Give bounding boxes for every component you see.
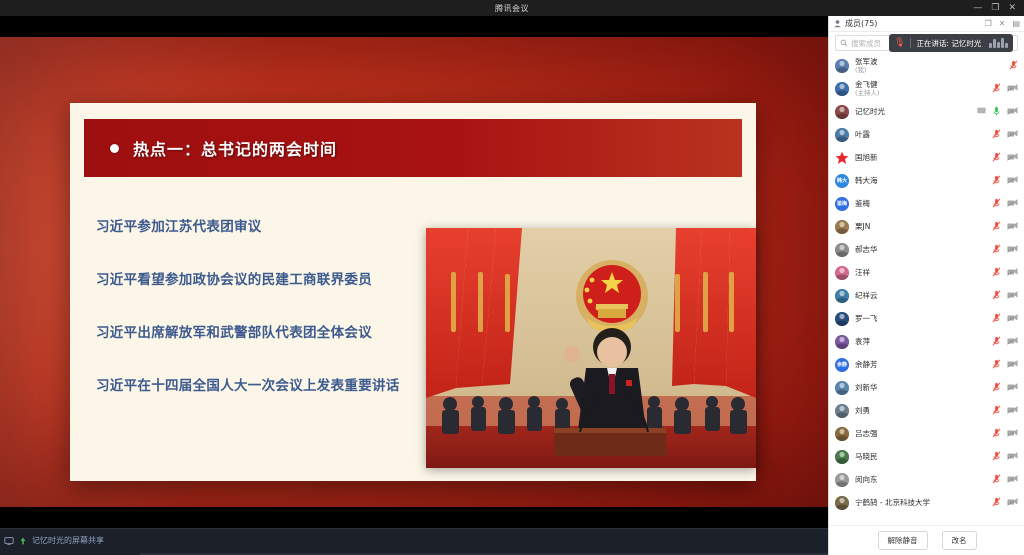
participant-name: 叶露	[855, 130, 870, 139]
participant-row[interactable]: 韩大韩大海	[829, 169, 1024, 192]
avatar	[835, 289, 849, 303]
participant-name: 记忆时光	[855, 107, 885, 116]
slide-bullet-2: 习近平出席解放军和武警部队代表团全体会议	[96, 321, 436, 341]
participant-name-wrap: 宁鹤鸫 - 北京科技大学	[855, 498, 930, 507]
speaking-label: 正在讲话: 记忆时光	[916, 38, 981, 49]
avatar	[835, 128, 849, 142]
rename-button[interactable]: 改名	[942, 531, 977, 550]
panel-menu-icon[interactable]: ▤	[1012, 19, 1020, 28]
avatar	[835, 427, 849, 441]
participant-name-wrap: 栗JN	[855, 222, 870, 231]
participant-name-wrap: 刘新华	[855, 383, 878, 392]
slide-bullet-list: 习近平参加江苏代表团审议 习近平看望参加政协会议的民建工商联界委员 习近平出席解…	[96, 215, 436, 427]
participant-name-wrap: 鉴梅	[855, 199, 870, 208]
participant-row[interactable]: 袁萍	[829, 330, 1024, 353]
participant-name: 金飞健	[855, 80, 880, 89]
mic-off-icon[interactable]	[992, 175, 1001, 187]
maximize-icon[interactable]: ❐	[991, 4, 999, 13]
mic-muted-icon: 🎙	[894, 38, 905, 48]
slide-bullet-1: 习近平看望参加政协会议的民建工商联界委员	[96, 268, 436, 288]
slide-card: 热点一：总书记的两会时间 习近平参加江苏代表团审议 习近平看望参加政协会议的民建…	[70, 103, 756, 481]
participant-row[interactable]: 张军波(我)	[829, 54, 1024, 77]
avatar	[835, 335, 849, 349]
participants-footer: 解除静音 改名	[829, 525, 1024, 555]
mic-off-icon[interactable]	[992, 497, 1001, 509]
mic-off-icon[interactable]	[992, 129, 1001, 141]
window-titlebar: 腾讯会议 — ❐ ✕	[0, 0, 1024, 16]
participant-name: 张军波	[855, 57, 878, 66]
taskbar-share-item[interactable]: 记忆时光的屏幕共享	[4, 535, 104, 546]
participant-name: 马晓民	[855, 452, 878, 461]
slide-bullet-3: 习近平在十四届全国人大一次会议上发表重要讲话	[96, 374, 436, 394]
avatar	[835, 450, 849, 464]
participant-row[interactable]: 记忆时光	[829, 100, 1024, 123]
participant-name-wrap: 金飞健(主持人)	[855, 80, 880, 97]
participant-name: 鉴梅	[855, 199, 870, 208]
window-title: 腾讯会议	[495, 3, 529, 14]
participant-name-wrap: 纪祥云	[855, 291, 878, 300]
camera-off-icon[interactable]	[1007, 222, 1018, 232]
camera-off-icon[interactable]	[1007, 268, 1018, 278]
participant-status-icons	[992, 267, 1018, 279]
avatar	[835, 243, 849, 257]
participant-row[interactable]: 郝志华	[829, 238, 1024, 261]
participant-status-icons	[977, 106, 1018, 118]
avatar	[835, 404, 849, 418]
unmute-all-button[interactable]: 解除静音	[878, 531, 928, 550]
mic-off-icon[interactable]	[992, 83, 1001, 95]
camera-off-icon[interactable]	[1007, 199, 1018, 209]
avatar: 鉴梅	[835, 197, 849, 211]
mic-off-icon[interactable]	[992, 428, 1001, 440]
screen-icon	[4, 536, 14, 546]
slide-header-bullet-icon	[110, 144, 119, 153]
mic-off-icon[interactable]	[992, 313, 1001, 325]
mic-off-icon[interactable]	[992, 290, 1001, 302]
avatar	[835, 266, 849, 280]
participant-status-icons	[992, 175, 1018, 187]
participants-list[interactable]: 张军波(我)金飞健(主持人)记忆时光叶露国旭新韩大韩大海鉴梅鉴梅栗JN郝志华汪祥…	[829, 54, 1024, 526]
slide-header-bar: 热点一：总书记的两会时间	[84, 119, 742, 177]
camera-off-icon[interactable]	[1007, 107, 1018, 117]
participant-name-wrap: 郝志华	[855, 245, 878, 254]
participant-name: 郝志华	[855, 245, 878, 254]
avatar: 韩大	[835, 174, 849, 188]
participant-name: 宁鹤鸫 - 北京科技大学	[855, 498, 930, 507]
participant-name: 余静芳	[855, 360, 878, 369]
meeting-window: 腾讯会议 — ❐ ✕ 热点一：总书记的两会时间 习近平参加江苏代表团审议 习近平…	[0, 0, 1024, 555]
participant-row[interactable]: 刘新华	[829, 376, 1024, 399]
participant-row[interactable]: 纪祥云	[829, 284, 1024, 307]
participants-panel: 成员(75) ❐ ✕ ▤ 搜索成员 🎙 正在讲话: 记忆时光	[828, 16, 1024, 555]
participant-name-wrap: 马晓民	[855, 452, 878, 461]
participant-status-icons	[992, 428, 1018, 440]
participant-name-wrap: 汪祥	[855, 268, 870, 277]
slide-photo	[426, 228, 756, 468]
mic-off-icon[interactable]	[992, 221, 1001, 233]
close-icon[interactable]: ✕	[1008, 4, 1016, 13]
participant-row[interactable]: 栗JN	[829, 215, 1024, 238]
participant-name: 吕志强	[855, 429, 878, 438]
avatar	[835, 381, 849, 395]
waveform-icon	[989, 38, 1008, 48]
participant-name-wrap: 记忆时光	[855, 107, 885, 116]
participant-status-icons	[992, 451, 1018, 463]
camera-off-icon[interactable]	[1007, 153, 1018, 163]
taskbar-share-label: 记忆时光的屏幕共享	[32, 535, 104, 546]
participant-status-icons	[992, 497, 1018, 509]
presentation-slide: 热点一：总书记的两会时间 习近平参加江苏代表团审议 习近平看望参加政协会议的民建…	[0, 37, 828, 507]
participant-name-wrap: 张军波(我)	[855, 57, 878, 74]
participant-row[interactable]: 马晓民	[829, 445, 1024, 468]
participant-name-wrap: 刘勇	[855, 406, 870, 415]
camera-off-icon[interactable]	[1007, 176, 1018, 186]
camera-off-icon[interactable]	[1007, 475, 1018, 485]
shared-screen-stage: 热点一：总书记的两会时间 习近平参加江苏代表团审议 习近平看望参加政协会议的民建…	[0, 16, 828, 528]
mic-off-icon[interactable]	[992, 336, 1001, 348]
minimize-icon[interactable]: —	[973, 4, 982, 13]
participant-row[interactable]: 余静余静芳	[829, 353, 1024, 376]
mic-off-icon[interactable]	[992, 451, 1001, 463]
camera-off-icon[interactable]	[1007, 337, 1018, 347]
sharing-screen-icon	[977, 107, 986, 117]
camera-off-icon[interactable]	[1007, 406, 1018, 416]
participant-status-icons	[992, 244, 1018, 256]
participant-name-wrap: 叶露	[855, 130, 870, 139]
participant-name: 闵向东	[855, 475, 878, 484]
participant-name-wrap: 罗一飞	[855, 314, 878, 323]
close-panel-icon[interactable]: ✕	[999, 19, 1006, 28]
slide-title: 热点一：总书记的两会时间	[133, 136, 337, 160]
participant-row[interactable]: 汪祥	[829, 261, 1024, 284]
avatar	[835, 496, 849, 510]
mic-off-icon[interactable]	[1009, 60, 1018, 72]
participants-header: 成员(75) ❐ ✕ ▤	[829, 16, 1024, 32]
camera-off-icon[interactable]	[1007, 360, 1018, 370]
participant-name: 汪祥	[855, 268, 870, 277]
people-icon	[833, 19, 842, 28]
great-hall-photo-svg	[426, 228, 756, 468]
participant-status-icons	[992, 336, 1018, 348]
participant-name-wrap: 国旭新	[855, 153, 878, 162]
speaking-indicator: 🎙 正在讲话: 记忆时光	[889, 34, 1013, 52]
national-emblem-icon	[576, 260, 648, 333]
avatar	[835, 59, 849, 73]
mic-off-icon[interactable]	[992, 198, 1001, 210]
participant-row[interactable]: 鉴梅鉴梅	[829, 192, 1024, 215]
participant-row[interactable]: 刘勇	[829, 399, 1024, 422]
participant-status-icons	[992, 290, 1018, 302]
mic-on-icon[interactable]	[992, 106, 1001, 118]
speaking-divider	[910, 38, 911, 48]
participant-name-wrap: 吕志强	[855, 429, 878, 438]
participant-name: 国旭新	[855, 153, 878, 162]
camera-off-icon[interactable]	[1007, 245, 1018, 255]
camera-off-icon[interactable]	[1007, 314, 1018, 324]
participant-row[interactable]: 闵向东	[829, 468, 1024, 491]
camera-off-icon[interactable]	[1007, 84, 1018, 94]
participant-name: 袁萍	[855, 337, 870, 346]
camera-off-icon[interactable]	[1007, 291, 1018, 301]
avatar	[835, 312, 849, 326]
window-controls: — ❐ ✕	[973, 0, 1022, 16]
slide-bullet-0: 习近平参加江苏代表团审议	[96, 215, 436, 235]
avatar	[835, 151, 849, 165]
participant-row[interactable]: 叶露	[829, 123, 1024, 146]
camera-off-icon[interactable]	[1007, 130, 1018, 140]
participant-status-icons	[992, 83, 1018, 95]
camera-off-icon[interactable]	[1007, 383, 1018, 393]
participant-status-icons	[992, 221, 1018, 233]
participant-status-icons	[992, 152, 1018, 164]
participant-status-icons	[992, 129, 1018, 141]
participant-row[interactable]: 金飞健(主持人)	[829, 77, 1024, 100]
participant-name-wrap: 闵向东	[855, 475, 878, 484]
participant-status-icons	[992, 359, 1018, 371]
mic-off-icon[interactable]	[992, 267, 1001, 279]
panel-controls: ❐ ✕ ▤	[985, 19, 1020, 28]
participant-name-wrap: 余静芳	[855, 360, 878, 369]
participant-row[interactable]: 国旭新	[829, 146, 1024, 169]
camera-off-icon[interactable]	[1007, 498, 1018, 508]
search-row: 搜索成员 🎙 正在讲话: 记忆时光	[829, 32, 1024, 54]
avatar	[835, 473, 849, 487]
avatar	[835, 105, 849, 119]
mic-off-icon[interactable]	[992, 244, 1001, 256]
avatar	[835, 220, 849, 234]
participant-name: 罗一飞	[855, 314, 878, 323]
participant-name-wrap: 袁萍	[855, 337, 870, 346]
participant-name: 韩大海	[855, 176, 878, 185]
popout-panel-icon[interactable]: ❐	[985, 19, 992, 28]
mic-off-icon[interactable]	[992, 152, 1001, 164]
participant-name: 栗JN	[855, 222, 870, 231]
participant-name-wrap: 韩大海	[855, 176, 878, 185]
participant-name: 刘新华	[855, 383, 878, 392]
camera-off-icon[interactable]	[1007, 452, 1018, 462]
participant-name: 刘勇	[855, 406, 870, 415]
participant-row[interactable]: 吕志强	[829, 422, 1024, 445]
participant-row[interactable]: 宁鹤鸫 - 北京科技大学	[829, 491, 1024, 514]
participant-role: (我)	[855, 66, 878, 74]
participant-status-icons	[1009, 60, 1018, 72]
camera-off-icon[interactable]	[1007, 429, 1018, 439]
participant-status-icons	[992, 382, 1018, 394]
participant-row[interactable]: 罗一飞	[829, 307, 1024, 330]
participant-name: 纪祥云	[855, 291, 878, 300]
share-up-icon	[18, 536, 28, 546]
mic-off-icon[interactable]	[992, 359, 1001, 371]
participant-status-icons	[992, 313, 1018, 325]
search-placeholder: 搜索成员	[851, 38, 881, 49]
participants-count-label: 成员(75)	[845, 18, 877, 29]
participant-role: (主持人)	[855, 89, 880, 97]
avatar: 余静	[835, 358, 849, 372]
avatar	[835, 82, 849, 96]
mic-off-icon[interactable]	[992, 405, 1001, 417]
participant-status-icons	[992, 405, 1018, 417]
search-icon	[840, 39, 848, 47]
mic-off-icon[interactable]	[992, 474, 1001, 486]
participant-status-icons	[992, 474, 1018, 486]
participant-status-icons	[992, 198, 1018, 210]
mic-off-icon[interactable]	[992, 382, 1001, 394]
